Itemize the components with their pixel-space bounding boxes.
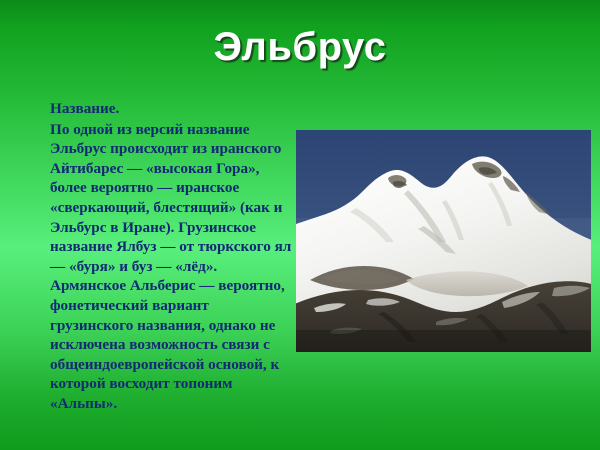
elbrus-photo <box>296 130 591 352</box>
page-title: Эльбрус <box>0 24 600 70</box>
body-text-block: Название. По одной из версий название Эл… <box>50 99 294 414</box>
elbrus-photo-illustration <box>296 130 591 352</box>
slide-canvas: Эльбрус Название. По одной из версий наз… <box>0 0 600 450</box>
body-paragraph: По одной из версий название Эльбрус прои… <box>50 120 294 414</box>
body-heading: Название. <box>50 99 294 119</box>
